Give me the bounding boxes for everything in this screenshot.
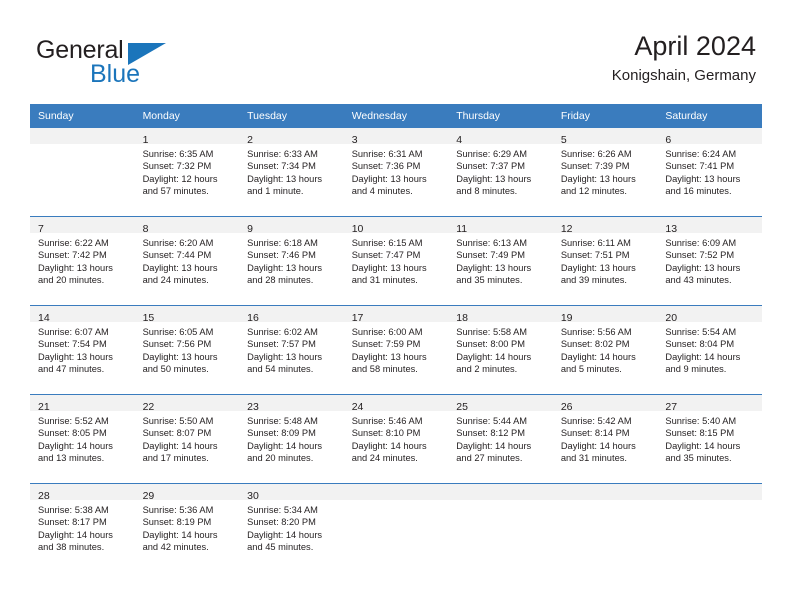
day-cell[interactable]: 22Sunrise: 5:50 AMSunset: 8:07 PMDayligh…	[135, 395, 240, 483]
daylight-duration-line2: and 50 minutes.	[143, 363, 234, 375]
daylight-duration-line1: Daylight: 13 hours	[247, 173, 338, 185]
daylight-duration-line2: and 20 minutes.	[38, 274, 129, 286]
sunrise-time: Sunrise: 5:34 AM	[247, 504, 338, 516]
sunrise-time: Sunrise: 5:48 AM	[247, 415, 338, 427]
page-header: General Blue April 2024 Konigshain, Germ…	[0, 0, 792, 100]
daylight-duration-line2: and 39 minutes.	[561, 274, 652, 286]
day-detail-lines: Sunrise: 5:48 AMSunset: 8:09 PMDaylight:…	[239, 411, 344, 465]
sunset-time: Sunset: 8:00 PM	[456, 338, 547, 350]
day-number-band: 18	[448, 306, 553, 322]
sunset-time: Sunset: 8:10 PM	[352, 427, 443, 439]
calendar-day-cell[interactable]: 8Sunrise: 6:20 AMSunset: 7:44 PMDaylight…	[135, 217, 240, 306]
day-number-band: 15	[135, 306, 240, 322]
daylight-duration-line1: Daylight: 14 hours	[38, 440, 129, 452]
daylight-duration-line2: and 24 minutes.	[352, 452, 443, 464]
day-number: 21	[38, 401, 50, 413]
day-number-band: 28	[30, 484, 135, 500]
sunset-time: Sunset: 7:59 PM	[352, 338, 443, 350]
calendar-day-cell[interactable]: 17Sunrise: 6:00 AMSunset: 7:59 PMDayligh…	[344, 306, 449, 395]
day-detail-lines: Sunrise: 6:02 AMSunset: 7:57 PMDaylight:…	[239, 322, 344, 376]
day-cell[interactable]: 27Sunrise: 5:40 AMSunset: 8:15 PMDayligh…	[657, 395, 762, 483]
calendar-day-cell[interactable]: 4Sunrise: 6:29 AMSunset: 7:37 PMDaylight…	[448, 128, 553, 217]
daylight-duration-line2: and 12 minutes.	[561, 185, 652, 197]
day-detail-lines: Sunrise: 6:11 AMSunset: 7:51 PMDaylight:…	[553, 233, 658, 287]
day-number: 19	[561, 312, 573, 324]
sunrise-time: Sunrise: 5:44 AM	[456, 415, 547, 427]
calendar-day-cell[interactable]: 3Sunrise: 6:31 AMSunset: 7:36 PMDaylight…	[344, 128, 449, 217]
daylight-duration-line2: and 8 minutes.	[456, 185, 547, 197]
daylight-duration-line2: and 2 minutes.	[456, 363, 547, 375]
day-detail-lines: Sunrise: 5:44 AMSunset: 8:12 PMDaylight:…	[448, 411, 553, 465]
daylight-duration-line2: and 17 minutes.	[143, 452, 234, 464]
day-detail-lines: Sunrise: 6:15 AMSunset: 7:47 PMDaylight:…	[344, 233, 449, 287]
calendar-day-cell[interactable]: 24Sunrise: 5:46 AMSunset: 8:10 PMDayligh…	[344, 395, 449, 484]
sunset-time: Sunset: 8:14 PM	[561, 427, 652, 439]
day-number: 30	[247, 490, 259, 502]
day-number: 23	[247, 401, 259, 413]
day-detail-lines	[553, 500, 658, 504]
sunset-time: Sunset: 8:02 PM	[561, 338, 652, 350]
daylight-duration-line2: and 38 minutes.	[38, 541, 129, 553]
daylight-duration-line1: Daylight: 13 hours	[561, 173, 652, 185]
day-detail-lines: Sunrise: 5:38 AMSunset: 8:17 PMDaylight:…	[30, 500, 135, 554]
calendar-day-cell[interactable]	[30, 128, 135, 217]
daylight-duration-line2: and 43 minutes.	[665, 274, 756, 286]
calendar-week-row: 14Sunrise: 6:07 AMSunset: 7:54 PMDayligh…	[30, 306, 762, 395]
calendar-day-cell[interactable]	[448, 484, 553, 573]
day-number-band: 4	[448, 128, 553, 144]
sunset-time: Sunset: 7:46 PM	[247, 249, 338, 261]
calendar-week-row: 1Sunrise: 6:35 AMSunset: 7:32 PMDaylight…	[30, 128, 762, 217]
day-cell[interactable]: 20Sunrise: 5:54 AMSunset: 8:04 PMDayligh…	[657, 306, 762, 394]
sunrise-time: Sunrise: 5:42 AM	[561, 415, 652, 427]
day-cell[interactable]: 29Sunrise: 5:36 AMSunset: 8:19 PMDayligh…	[135, 484, 240, 572]
sunset-time: Sunset: 7:44 PM	[143, 249, 234, 261]
daylight-duration-line1: Daylight: 13 hours	[247, 351, 338, 363]
day-cell[interactable]: 24Sunrise: 5:46 AMSunset: 8:10 PMDayligh…	[344, 395, 449, 483]
day-detail-lines: Sunrise: 6:26 AMSunset: 7:39 PMDaylight:…	[553, 144, 658, 198]
daylight-duration-line1: Daylight: 14 hours	[247, 440, 338, 452]
sunset-time: Sunset: 8:15 PM	[665, 427, 756, 439]
day-number-band: 30	[239, 484, 344, 500]
sunset-time: Sunset: 7:52 PM	[665, 249, 756, 261]
day-number: 7	[38, 223, 44, 235]
daylight-duration-line1: Daylight: 14 hours	[665, 440, 756, 452]
day-number: 13	[665, 223, 677, 235]
daylight-duration-line2: and 35 minutes.	[456, 274, 547, 286]
day-number: 20	[665, 312, 677, 324]
page-subtitle: Konigshain, Germany	[612, 66, 756, 86]
calendar-week-row: 21Sunrise: 5:52 AMSunset: 8:05 PMDayligh…	[30, 395, 762, 484]
daylight-duration-line2: and 4 minutes.	[352, 185, 443, 197]
calendar-day-cell[interactable]	[553, 484, 658, 573]
day-number: 28	[38, 490, 50, 502]
calendar-day-cell[interactable]: 1Sunrise: 6:35 AMSunset: 7:32 PMDaylight…	[135, 128, 240, 217]
weekday-header-friday: Friday	[553, 104, 658, 128]
calendar-day-cell[interactable]	[344, 484, 449, 573]
day-cell[interactable]: 10Sunrise: 6:15 AMSunset: 7:47 PMDayligh…	[344, 217, 449, 305]
day-detail-lines: Sunrise: 5:56 AMSunset: 8:02 PMDaylight:…	[553, 322, 658, 376]
calendar-header-row: SundayMondayTuesdayWednesdayThursdayFrid…	[30, 104, 762, 128]
day-number: 4	[456, 134, 462, 146]
calendar-day-cell[interactable]: 18Sunrise: 5:58 AMSunset: 8:00 PMDayligh…	[448, 306, 553, 395]
day-number-band: 14	[30, 306, 135, 322]
day-detail-lines: Sunrise: 5:50 AMSunset: 8:07 PMDaylight:…	[135, 411, 240, 465]
day-number: 6	[665, 134, 671, 146]
day-number: 11	[456, 223, 467, 235]
day-number: 12	[561, 223, 573, 235]
daylight-duration-line1: Daylight: 13 hours	[352, 351, 443, 363]
day-number-band: 17	[344, 306, 449, 322]
sunset-time: Sunset: 8:19 PM	[143, 516, 234, 528]
day-cell[interactable]: 26Sunrise: 5:42 AMSunset: 8:14 PMDayligh…	[553, 395, 658, 483]
day-number-band: 9	[239, 217, 344, 233]
daylight-duration-line2: and 35 minutes.	[665, 452, 756, 464]
sunrise-time: Sunrise: 6:33 AM	[247, 148, 338, 160]
sunrise-time: Sunrise: 6:20 AM	[143, 237, 234, 249]
daylight-duration-line2: and 58 minutes.	[352, 363, 443, 375]
day-number-band: 5	[553, 128, 658, 144]
empty-day-cell	[553, 484, 658, 572]
empty-day-cell	[657, 484, 762, 572]
daylight-duration-line2: and 42 minutes.	[143, 541, 234, 553]
sunset-time: Sunset: 7:34 PM	[247, 160, 338, 172]
day-number-band: 22	[135, 395, 240, 411]
daylight-duration-line2: and 31 minutes.	[561, 452, 652, 464]
day-cell[interactable]: 4Sunrise: 6:29 AMSunset: 7:37 PMDaylight…	[448, 128, 553, 216]
day-cell[interactable]: 5Sunrise: 6:26 AMSunset: 7:39 PMDaylight…	[553, 128, 658, 216]
day-number-band: 2	[239, 128, 344, 144]
day-number: 25	[456, 401, 468, 413]
day-cell[interactable]: 19Sunrise: 5:56 AMSunset: 8:02 PMDayligh…	[553, 306, 658, 394]
day-number-band: 21	[30, 395, 135, 411]
day-number-band	[553, 484, 658, 500]
sunrise-time: Sunrise: 5:40 AM	[665, 415, 756, 427]
sunrise-time: Sunrise: 5:36 AM	[143, 504, 234, 516]
sunrise-time: Sunrise: 5:38 AM	[38, 504, 129, 516]
sunset-time: Sunset: 8:20 PM	[247, 516, 338, 528]
weekday-header-sunday: Sunday	[30, 104, 135, 128]
calendar-day-cell[interactable]: 10Sunrise: 6:15 AMSunset: 7:47 PMDayligh…	[344, 217, 449, 306]
day-cell[interactable]: 15Sunrise: 6:05 AMSunset: 7:56 PMDayligh…	[135, 306, 240, 394]
sunset-time: Sunset: 8:17 PM	[38, 516, 129, 528]
day-number: 14	[38, 312, 50, 324]
daylight-duration-line1: Daylight: 13 hours	[456, 262, 547, 274]
calendar-day-cell[interactable]: 16Sunrise: 6:02 AMSunset: 7:57 PMDayligh…	[239, 306, 344, 395]
day-detail-lines: Sunrise: 6:09 AMSunset: 7:52 PMDaylight:…	[657, 233, 762, 287]
day-number: 26	[561, 401, 573, 413]
sunset-time: Sunset: 8:07 PM	[143, 427, 234, 439]
calendar-day-cell[interactable]: 25Sunrise: 5:44 AMSunset: 8:12 PMDayligh…	[448, 395, 553, 484]
day-detail-lines: Sunrise: 5:52 AMSunset: 8:05 PMDaylight:…	[30, 411, 135, 465]
day-number-band	[30, 128, 135, 144]
day-cell[interactable]: 3Sunrise: 6:31 AMSunset: 7:36 PMDaylight…	[344, 128, 449, 216]
daylight-duration-line1: Daylight: 14 hours	[38, 529, 129, 541]
day-number: 8	[143, 223, 149, 235]
day-number-band: 11	[448, 217, 553, 233]
sunrise-time: Sunrise: 5:46 AM	[352, 415, 443, 427]
daylight-duration-line1: Daylight: 14 hours	[247, 529, 338, 541]
day-detail-lines: Sunrise: 5:54 AMSunset: 8:04 PMDaylight:…	[657, 322, 762, 376]
daylight-duration-line1: Daylight: 13 hours	[38, 262, 129, 274]
day-number: 9	[247, 223, 253, 235]
sunrise-time: Sunrise: 5:50 AM	[143, 415, 234, 427]
day-number: 10	[352, 223, 364, 235]
sunrise-time: Sunrise: 6:29 AM	[456, 148, 547, 160]
day-number: 3	[352, 134, 358, 146]
daylight-duration-line1: Daylight: 12 hours	[143, 173, 234, 185]
calendar-day-cell[interactable]: 23Sunrise: 5:48 AMSunset: 8:09 PMDayligh…	[239, 395, 344, 484]
day-number-band: 16	[239, 306, 344, 322]
day-number: 2	[247, 134, 253, 146]
day-number-band: 23	[239, 395, 344, 411]
day-cell[interactable]: 28Sunrise: 5:38 AMSunset: 8:17 PMDayligh…	[30, 484, 135, 572]
daylight-duration-line2: and 20 minutes.	[247, 452, 338, 464]
daylight-duration-line2: and 54 minutes.	[247, 363, 338, 375]
day-cell[interactable]: 18Sunrise: 5:58 AMSunset: 8:00 PMDayligh…	[448, 306, 553, 394]
calendar-day-cell[interactable]: 30Sunrise: 5:34 AMSunset: 8:20 PMDayligh…	[239, 484, 344, 573]
calendar-day-cell[interactable]: 15Sunrise: 6:05 AMSunset: 7:56 PMDayligh…	[135, 306, 240, 395]
sunset-time: Sunset: 7:42 PM	[38, 249, 129, 261]
sunrise-time: Sunrise: 6:24 AM	[665, 148, 756, 160]
day-detail-lines: Sunrise: 6:31 AMSunset: 7:36 PMDaylight:…	[344, 144, 449, 198]
calendar-week-row: 28Sunrise: 5:38 AMSunset: 8:17 PMDayligh…	[30, 484, 762, 573]
daylight-duration-line1: Daylight: 14 hours	[456, 351, 547, 363]
daylight-duration-line1: Daylight: 14 hours	[456, 440, 547, 452]
daylight-duration-line2: and 31 minutes.	[352, 274, 443, 286]
title-block: April 2024 Konigshain, Germany	[612, 30, 756, 86]
day-detail-lines: Sunrise: 5:36 AMSunset: 8:19 PMDaylight:…	[135, 500, 240, 554]
sunset-time: Sunset: 8:09 PM	[247, 427, 338, 439]
day-detail-lines: Sunrise: 6:07 AMSunset: 7:54 PMDaylight:…	[30, 322, 135, 376]
calendar-week-row: 7Sunrise: 6:22 AMSunset: 7:42 PMDaylight…	[30, 217, 762, 306]
day-cell[interactable]: 1Sunrise: 6:35 AMSunset: 7:32 PMDaylight…	[135, 128, 240, 216]
sunset-time: Sunset: 8:05 PM	[38, 427, 129, 439]
logo-text-blue: Blue	[90, 60, 140, 89]
weekday-headers: SundayMondayTuesdayWednesdayThursdayFrid…	[30, 104, 762, 128]
day-number: 17	[352, 312, 364, 324]
daylight-duration-line1: Daylight: 13 hours	[456, 173, 547, 185]
daylight-duration-line1: Daylight: 13 hours	[247, 262, 338, 274]
day-detail-lines: Sunrise: 6:35 AMSunset: 7:32 PMDaylight:…	[135, 144, 240, 198]
day-cell[interactable]: 13Sunrise: 6:09 AMSunset: 7:52 PMDayligh…	[657, 217, 762, 305]
sunrise-time: Sunrise: 6:05 AM	[143, 326, 234, 338]
day-number-band	[657, 484, 762, 500]
calendar-day-cell[interactable]: 19Sunrise: 5:56 AMSunset: 8:02 PMDayligh…	[553, 306, 658, 395]
sunset-time: Sunset: 7:51 PM	[561, 249, 652, 261]
day-cell[interactable]: 8Sunrise: 6:20 AMSunset: 7:44 PMDaylight…	[135, 217, 240, 305]
daylight-duration-line1: Daylight: 13 hours	[143, 262, 234, 274]
daylight-duration-line1: Daylight: 13 hours	[665, 262, 756, 274]
sunrise-time: Sunrise: 6:13 AM	[456, 237, 547, 249]
day-number-band: 6	[657, 128, 762, 144]
sunrise-time: Sunrise: 5:56 AM	[561, 326, 652, 338]
sunrise-time: Sunrise: 5:58 AM	[456, 326, 547, 338]
day-number-band: 10	[344, 217, 449, 233]
calendar-day-cell[interactable]: 6Sunrise: 6:24 AMSunset: 7:41 PMDaylight…	[657, 128, 762, 217]
day-detail-lines: Sunrise: 6:24 AMSunset: 7:41 PMDaylight:…	[657, 144, 762, 198]
day-number-band: 8	[135, 217, 240, 233]
day-number-band: 20	[657, 306, 762, 322]
sunrise-time: Sunrise: 6:22 AM	[38, 237, 129, 249]
calendar-day-cell[interactable]: 26Sunrise: 5:42 AMSunset: 8:14 PMDayligh…	[553, 395, 658, 484]
day-number-band: 25	[448, 395, 553, 411]
calendar-table: SundayMondayTuesdayWednesdayThursdayFrid…	[30, 104, 762, 572]
page-title: April 2024	[612, 30, 756, 62]
sunrise-time: Sunrise: 6:11 AM	[561, 237, 652, 249]
calendar-day-cell[interactable]: 5Sunrise: 6:26 AMSunset: 7:39 PMDaylight…	[553, 128, 658, 217]
day-detail-lines: Sunrise: 5:46 AMSunset: 8:10 PMDaylight:…	[344, 411, 449, 465]
day-detail-lines: Sunrise: 6:33 AMSunset: 7:34 PMDaylight:…	[239, 144, 344, 198]
sunset-time: Sunset: 7:36 PM	[352, 160, 443, 172]
calendar-day-cell[interactable]: 22Sunrise: 5:50 AMSunset: 8:07 PMDayligh…	[135, 395, 240, 484]
empty-day-cell	[448, 484, 553, 572]
day-cell[interactable]: 16Sunrise: 6:02 AMSunset: 7:57 PMDayligh…	[239, 306, 344, 394]
day-cell[interactable]: 17Sunrise: 6:00 AMSunset: 7:59 PMDayligh…	[344, 306, 449, 394]
day-detail-lines	[344, 500, 449, 504]
sunset-time: Sunset: 7:57 PM	[247, 338, 338, 350]
day-cell[interactable]: 9Sunrise: 6:18 AMSunset: 7:46 PMDaylight…	[239, 217, 344, 305]
sunrise-time: Sunrise: 6:00 AM	[352, 326, 443, 338]
day-cell[interactable]: 30Sunrise: 5:34 AMSunset: 8:20 PMDayligh…	[239, 484, 344, 572]
day-cell[interactable]: 12Sunrise: 6:11 AMSunset: 7:51 PMDayligh…	[553, 217, 658, 305]
day-detail-lines: Sunrise: 6:29 AMSunset: 7:37 PMDaylight:…	[448, 144, 553, 198]
day-detail-lines: Sunrise: 6:00 AMSunset: 7:59 PMDaylight:…	[344, 322, 449, 376]
day-number-band: 19	[553, 306, 658, 322]
day-detail-lines: Sunrise: 5:58 AMSunset: 8:00 PMDaylight:…	[448, 322, 553, 376]
calendar-day-cell[interactable]: 12Sunrise: 6:11 AMSunset: 7:51 PMDayligh…	[553, 217, 658, 306]
calendar-day-cell[interactable]: 14Sunrise: 6:07 AMSunset: 7:54 PMDayligh…	[30, 306, 135, 395]
day-detail-lines: Sunrise: 6:13 AMSunset: 7:49 PMDaylight:…	[448, 233, 553, 287]
sunset-time: Sunset: 7:39 PM	[561, 160, 652, 172]
day-detail-lines	[657, 500, 762, 504]
day-number: 16	[247, 312, 259, 324]
sunrise-time: Sunrise: 6:07 AM	[38, 326, 129, 338]
day-detail-lines: Sunrise: 6:20 AMSunset: 7:44 PMDaylight:…	[135, 233, 240, 287]
daylight-duration-line1: Daylight: 14 hours	[561, 440, 652, 452]
day-cell[interactable]: 21Sunrise: 5:52 AMSunset: 8:05 PMDayligh…	[30, 395, 135, 483]
sunrise-time: Sunrise: 5:54 AM	[665, 326, 756, 338]
day-number: 15	[143, 312, 155, 324]
empty-day-cell	[344, 484, 449, 572]
daylight-duration-line2: and 24 minutes.	[143, 274, 234, 286]
calendar-day-cell[interactable]: 27Sunrise: 5:40 AMSunset: 8:15 PMDayligh…	[657, 395, 762, 484]
calendar-day-cell[interactable]: 11Sunrise: 6:13 AMSunset: 7:49 PMDayligh…	[448, 217, 553, 306]
calendar-day-cell[interactable]: 20Sunrise: 5:54 AMSunset: 8:04 PMDayligh…	[657, 306, 762, 395]
daylight-duration-line2: and 9 minutes.	[665, 363, 756, 375]
day-cell[interactable]: 6Sunrise: 6:24 AMSunset: 7:41 PMDaylight…	[657, 128, 762, 216]
calendar-day-cell[interactable]: 28Sunrise: 5:38 AMSunset: 8:17 PMDayligh…	[30, 484, 135, 573]
sunrise-time: Sunrise: 6:18 AM	[247, 237, 338, 249]
day-number: 22	[143, 401, 155, 413]
sunrise-time: Sunrise: 6:26 AM	[561, 148, 652, 160]
day-number: 27	[665, 401, 677, 413]
sunset-time: Sunset: 7:49 PM	[456, 249, 547, 261]
day-detail-lines: Sunrise: 5:34 AMSunset: 8:20 PMDaylight:…	[239, 500, 344, 554]
daylight-duration-line1: Daylight: 14 hours	[143, 440, 234, 452]
daylight-duration-line1: Daylight: 14 hours	[561, 351, 652, 363]
day-number: 5	[561, 134, 567, 146]
day-cell[interactable]: 11Sunrise: 6:13 AMSunset: 7:49 PMDayligh…	[448, 217, 553, 305]
daylight-duration-line1: Daylight: 14 hours	[665, 351, 756, 363]
day-cell[interactable]: 14Sunrise: 6:07 AMSunset: 7:54 PMDayligh…	[30, 306, 135, 394]
calendar-day-cell[interactable]: 7Sunrise: 6:22 AMSunset: 7:42 PMDaylight…	[30, 217, 135, 306]
daylight-duration-line1: Daylight: 13 hours	[561, 262, 652, 274]
daylight-duration-line2: and 16 minutes.	[665, 185, 756, 197]
daylight-duration-line2: and 27 minutes.	[456, 452, 547, 464]
day-cell[interactable]: 2Sunrise: 6:33 AMSunset: 7:34 PMDaylight…	[239, 128, 344, 216]
calendar-body: 1Sunrise: 6:35 AMSunset: 7:32 PMDaylight…	[30, 128, 762, 572]
sunset-time: Sunset: 8:12 PM	[456, 427, 547, 439]
calendar-day-cell[interactable]: 13Sunrise: 6:09 AMSunset: 7:52 PMDayligh…	[657, 217, 762, 306]
sunrise-time: Sunrise: 6:15 AM	[352, 237, 443, 249]
sunrise-time: Sunrise: 6:31 AM	[352, 148, 443, 160]
daylight-duration-line2: and 45 minutes.	[247, 541, 338, 553]
sunset-time: Sunset: 7:54 PM	[38, 338, 129, 350]
day-cell[interactable]: 25Sunrise: 5:44 AMSunset: 8:12 PMDayligh…	[448, 395, 553, 483]
daylight-duration-line1: Daylight: 13 hours	[665, 173, 756, 185]
daylight-duration-line1: Daylight: 13 hours	[352, 262, 443, 274]
day-detail-lines: Sunrise: 6:18 AMSunset: 7:46 PMDaylight:…	[239, 233, 344, 287]
daylight-duration-line1: Daylight: 13 hours	[352, 173, 443, 185]
calendar-day-cell[interactable]: 29Sunrise: 5:36 AMSunset: 8:19 PMDayligh…	[135, 484, 240, 573]
daylight-duration-line2: and 28 minutes.	[247, 274, 338, 286]
daylight-duration-line1: Daylight: 13 hours	[38, 351, 129, 363]
day-cell[interactable]: 23Sunrise: 5:48 AMSunset: 8:09 PMDayligh…	[239, 395, 344, 483]
calendar-day-cell[interactable]: 9Sunrise: 6:18 AMSunset: 7:46 PMDaylight…	[239, 217, 344, 306]
weekday-header-monday: Monday	[135, 104, 240, 128]
daylight-duration-line1: Daylight: 14 hours	[352, 440, 443, 452]
sunrise-time: Sunrise: 6:09 AM	[665, 237, 756, 249]
sunset-time: Sunset: 8:04 PM	[665, 338, 756, 350]
weekday-header-tuesday: Tuesday	[239, 104, 344, 128]
sunset-time: Sunset: 7:37 PM	[456, 160, 547, 172]
calendar-page: General Blue April 2024 Konigshain, Germ…	[0, 0, 792, 612]
day-number-band: 29	[135, 484, 240, 500]
sunset-time: Sunset: 7:56 PM	[143, 338, 234, 350]
day-detail-lines: Sunrise: 5:42 AMSunset: 8:14 PMDaylight:…	[553, 411, 658, 465]
day-number-band	[344, 484, 449, 500]
day-number-band: 1	[135, 128, 240, 144]
day-number: 29	[143, 490, 155, 502]
day-number: 24	[352, 401, 364, 413]
day-detail-lines	[448, 500, 553, 504]
sunrise-time: Sunrise: 6:02 AM	[247, 326, 338, 338]
weekday-header-thursday: Thursday	[448, 104, 553, 128]
general-blue-logo[interactable]: General Blue	[36, 36, 236, 90]
sunset-time: Sunset: 7:41 PM	[665, 160, 756, 172]
day-number: 18	[456, 312, 468, 324]
daylight-duration-line2: and 1 minute.	[247, 185, 338, 197]
calendar-day-cell[interactable]: 21Sunrise: 5:52 AMSunset: 8:05 PMDayligh…	[30, 395, 135, 484]
day-cell[interactable]: 7Sunrise: 6:22 AMSunset: 7:42 PMDaylight…	[30, 217, 135, 305]
empty-day-cell	[30, 128, 135, 216]
calendar-day-cell[interactable]	[657, 484, 762, 573]
day-number: 1	[143, 134, 149, 146]
calendar-day-cell[interactable]: 2Sunrise: 6:33 AMSunset: 7:34 PMDaylight…	[239, 128, 344, 217]
daylight-duration-line1: Daylight: 14 hours	[143, 529, 234, 541]
daylight-duration-line2: and 57 minutes.	[143, 185, 234, 197]
day-number-band: 26	[553, 395, 658, 411]
day-detail-lines: Sunrise: 6:05 AMSunset: 7:56 PMDaylight:…	[135, 322, 240, 376]
sunrise-time: Sunrise: 5:52 AM	[38, 415, 129, 427]
day-detail-lines: Sunrise: 5:40 AMSunset: 8:15 PMDaylight:…	[657, 411, 762, 465]
daylight-duration-line2: and 47 minutes.	[38, 363, 129, 375]
sunset-time: Sunset: 7:32 PM	[143, 160, 234, 172]
daylight-duration-line2: and 13 minutes.	[38, 452, 129, 464]
day-number-band: 27	[657, 395, 762, 411]
daylight-duration-line1: Daylight: 13 hours	[143, 351, 234, 363]
